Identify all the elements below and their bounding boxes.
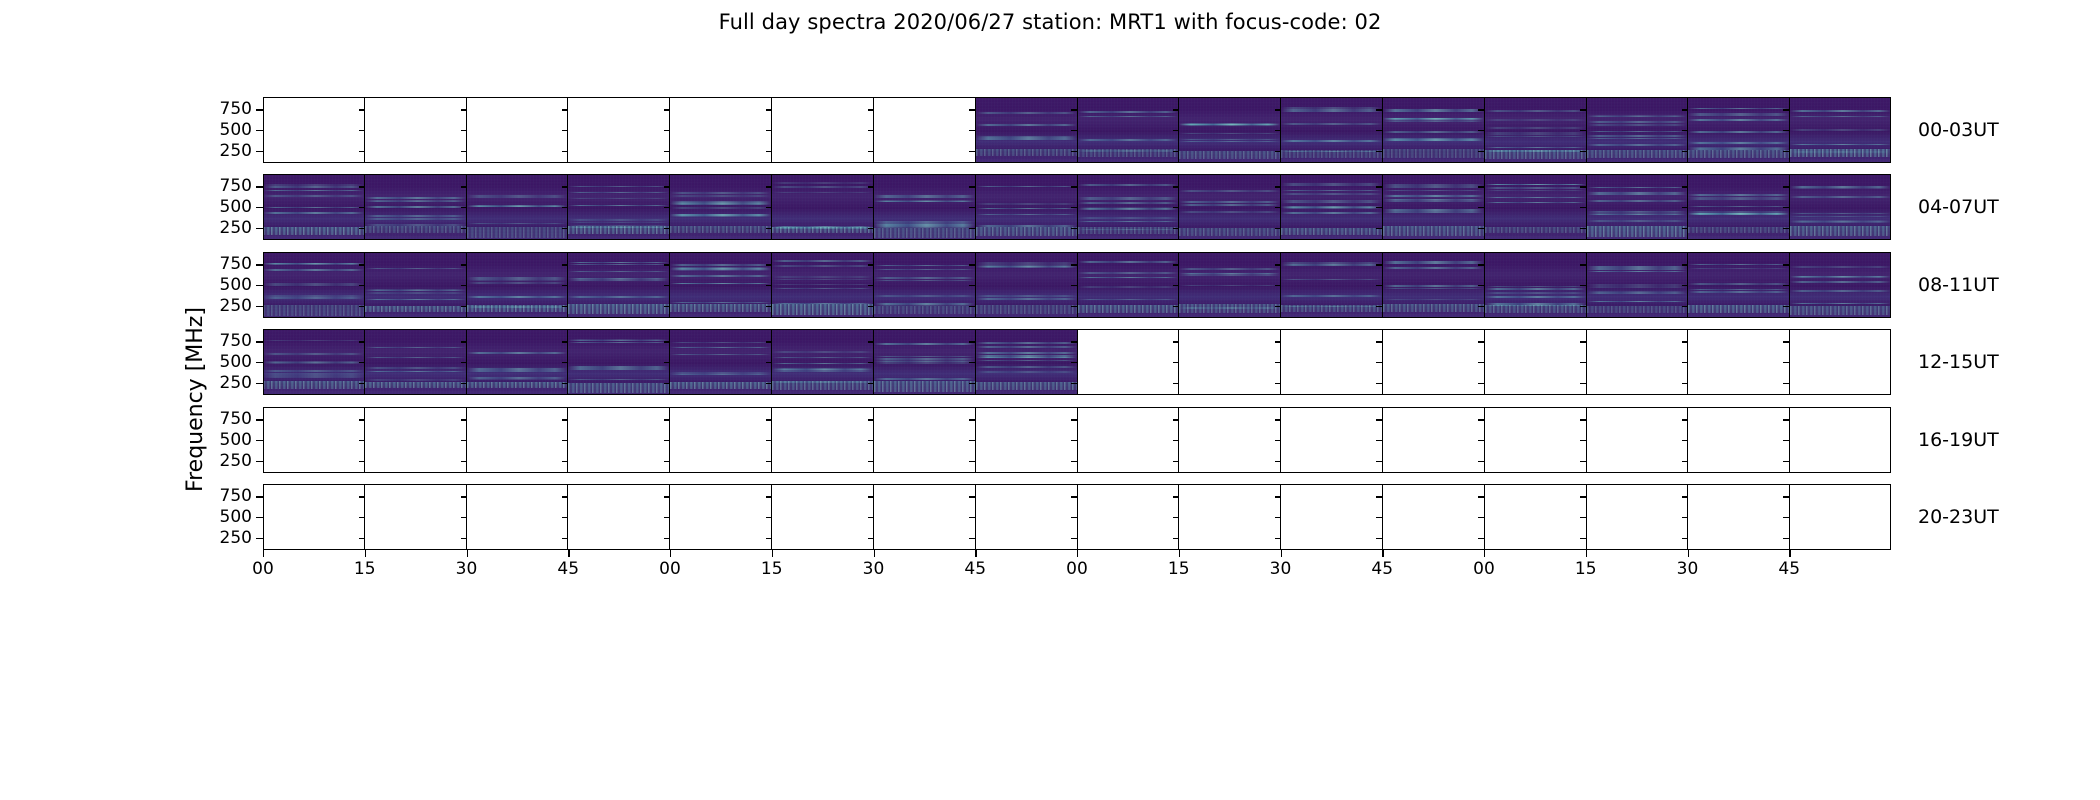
spectrogram-cell[interactable] [1688,97,1790,163]
y-tick-label: 500 [220,507,252,527]
y-tick-mark-inner [1682,207,1688,208]
y-tick-mark-inner [1173,228,1179,229]
spectrogram-image [1485,252,1586,318]
y-tick-mark-inner [359,109,365,110]
y-tick-mark-inner [1275,130,1281,131]
y-tick-mark-inner [461,538,467,539]
spectrogram-cell[interactable] [670,329,772,395]
y-tick-mark-inner [1173,517,1179,518]
y-tick-mark-inner [1478,285,1484,286]
y-tick-mark-inner [562,285,568,286]
y-tick-label: 500 [220,197,252,217]
spectrogram-cell[interactable] [1078,484,1180,550]
spectrogram-cell[interactable] [874,97,976,163]
y-tick-mark-inner [969,186,975,187]
spectrogram-cell[interactable] [1281,484,1383,550]
y-tick-mark-inner [359,461,365,462]
y-tick-mark-inner [562,207,568,208]
spectrogram-cell[interactable] [1383,252,1485,318]
spectrogram-row-16-19ut[interactable]: 250500750 [263,407,1891,473]
y-tick-mark-inner [1478,440,1484,441]
y-tick-mark-inner [1478,207,1484,208]
y-tick-mark-inner [359,538,365,539]
spectrogram-cell[interactable] [1485,174,1587,240]
y-tick-mark-inner [1173,207,1179,208]
spectrogram-cell[interactable] [1078,174,1180,240]
spectrogram-cell[interactable] [772,484,874,550]
spectrogram-cell[interactable] [467,407,569,473]
x-tick-label: 15 [761,559,783,579]
y-tick-mark-inner [1580,285,1586,286]
spectrogram-cell[interactable] [365,97,467,163]
spectrogram-cell[interactable] [1790,174,1891,240]
spectrogram-cell[interactable] [1078,407,1180,473]
spectrogram-cell[interactable] [772,252,874,318]
y-tick-mark-inner [766,461,772,462]
y-tick-mark-inner [1478,306,1484,307]
y-tick-mark-inner [562,538,568,539]
y-tick-mark-inner [664,341,670,342]
x-tick-mark [670,550,671,557]
y-tick-mark-inner [969,285,975,286]
y-tick-mark-inner [1275,383,1281,384]
y-tick-mark-inner [461,151,467,152]
spectrogram-cell[interactable] [263,484,365,550]
spectrogram-cell[interactable] [772,174,874,240]
spectrogram-cell[interactable] [1383,484,1485,550]
x-tick-label: 45 [1371,559,1393,579]
y-tick-mark-inner [1173,362,1179,363]
spectrogram-cell[interactable] [874,252,976,318]
spectrogram-row-12-15ut[interactable]: 250500750 [263,329,1891,395]
spectrogram-cell[interactable] [1485,407,1587,473]
spectrogram-image [1179,97,1280,163]
spectrogram-cell[interactable] [1383,329,1485,395]
y-tick-mark-inner [562,151,568,152]
y-tick-mark-inner [359,264,365,265]
spectrogram-cell[interactable] [1790,97,1891,163]
y-tick-mark-inner [1478,186,1484,187]
x-tick-mark [1789,550,1790,557]
y-tick-mark-inner [664,517,670,518]
spectrogram-cell[interactable] [568,174,670,240]
row-label-00-03ut: 00-03UT [1918,119,1999,141]
x-tick-label: 15 [354,559,376,579]
y-tick-mark-inner [1071,419,1077,420]
spectrogram-cell[interactable] [1281,329,1383,395]
y-tick-mark: 500 [256,440,263,441]
y-tick-mark-inner [969,362,975,363]
spectrogram-image [1688,174,1789,240]
spectrogram-cell[interactable] [1587,174,1689,240]
spectrogram-cell[interactable] [1688,174,1790,240]
y-tick-mark-inner [461,383,467,384]
y-tick-mark-inner [1580,362,1586,363]
y-tick-mark-inner [1682,362,1688,363]
spectrogram-image [874,174,975,240]
y-tick-mark-inner [766,341,772,342]
spectrogram-row-00-03ut[interactable]: 250500750 [263,97,1891,163]
subplot-cells [263,252,1891,318]
y-tick-mark-inner [461,228,467,229]
y-tick-mark-inner [1580,517,1586,518]
spectrogram-cell[interactable] [1688,252,1790,318]
y-tick-mark-inner [969,440,975,441]
y-tick-mark-inner [1071,264,1077,265]
spectrogram-cell[interactable] [568,407,670,473]
spectrogram-cell[interactable] [1179,97,1281,163]
y-tick-label: 250 [220,141,252,161]
y-tick-mark-inner [1376,341,1382,342]
spectrogram-cell[interactable] [1688,407,1790,473]
y-tick-mark-inner [461,285,467,286]
spectrogram-cell[interactable] [263,329,365,395]
spectrogram-cell[interactable] [976,484,1078,550]
spectrogram-cell[interactable] [772,97,874,163]
y-tick-mark-inner [766,440,772,441]
spectrogram-image [874,252,975,318]
spectrogram-cell[interactable] [1179,329,1281,395]
spectrogram-cell[interactable] [1078,97,1180,163]
y-tick-mark-inner [868,419,874,420]
row-label-12-15ut: 12-15UT [1918,351,1999,373]
x-tick-label: 00 [1066,559,1088,579]
y-tick-mark-inner [766,306,772,307]
y-tick-label: 500 [220,352,252,372]
y-tick-mark-inner [868,109,874,110]
y-tick-mark-inner [359,419,365,420]
y-tick-mark-inner [969,419,975,420]
spectrogram-cell[interactable] [1485,252,1587,318]
spectrogram-cell[interactable] [467,252,569,318]
spectrogram-cell[interactable] [365,484,467,550]
y-tick-mark-inner [969,130,975,131]
y-tick-label: 750 [220,486,252,506]
x-tick-mark [772,550,773,557]
spectrogram-cell[interactable] [1485,329,1587,395]
spectrogram-cell[interactable] [1485,484,1587,550]
spectrogram-cell[interactable] [1688,484,1790,550]
y-tick-mark-inner [969,496,975,497]
spectrogram-cell[interactable] [568,484,670,550]
y-tick-mark: 750 [256,186,263,187]
spectrogram-cell[interactable] [874,174,976,240]
y-tick-mark-inner [766,130,772,131]
y-tick-mark-inner [1783,109,1789,110]
y-tick-mark-inner [1783,496,1789,497]
spectrogram-cell[interactable] [365,252,467,318]
y-tick-mark-inner [1580,151,1586,152]
y-tick-mark-inner [359,383,365,384]
x-tick-label: 15 [1168,559,1190,579]
spectrogram-cell[interactable] [1281,174,1383,240]
y-tick-mark-inner [1682,306,1688,307]
spectrogram-cell[interactable] [1587,407,1689,473]
x-tick-label: 45 [964,559,986,579]
spectrogram-cell[interactable] [670,97,772,163]
spectrogram-cell[interactable] [1587,252,1689,318]
y-tick-mark-inner [1682,151,1688,152]
y-tick-mark-inner [1275,517,1281,518]
spectrogram-cell[interactable] [1383,174,1485,240]
spectrogram-image [772,174,873,240]
y-tick-mark-inner [1783,383,1789,384]
y-tick-mark-inner [461,207,467,208]
x-tick-label: 00 [1473,559,1495,579]
y-tick-label: 250 [220,528,252,548]
spectrogram-cell[interactable] [1383,97,1485,163]
spectrogram-image [1790,174,1891,240]
y-tick-mark-inner [1682,496,1688,497]
spectrogram-cell[interactable] [874,484,976,550]
spectrogram-cell[interactable] [976,252,1078,318]
spectrogram-cell[interactable] [365,329,467,395]
spectrogram-cell[interactable] [976,97,1078,163]
y-tick-mark-inner [461,461,467,462]
x-tick-mark [467,550,468,557]
y-tick-mark: 500 [256,362,263,363]
y-tick-mark-inner [359,228,365,229]
y-tick-mark-inner [562,461,568,462]
y-tick-mark-inner [1580,109,1586,110]
y-tick-mark-inner [1071,306,1077,307]
y-tick-mark-inner [1376,186,1382,187]
spectrogram-cell[interactable] [365,174,467,240]
y-tick-mark-inner [868,362,874,363]
y-tick-mark-inner [868,151,874,152]
y-tick-mark-inner [359,207,365,208]
y-tick-mark: 250 [256,383,263,384]
spectrogram-cell[interactable] [670,174,772,240]
spectrogram-cell[interactable] [670,407,772,473]
x-tick-mark [1382,550,1383,557]
spectrogram-cell[interactable] [1281,252,1383,318]
y-tick-mark-inner [1376,109,1382,110]
row-label-20-23ut: 20-23UT [1918,506,1999,528]
y-tick-label: 500 [220,430,252,450]
y-tick-mark-inner [1580,538,1586,539]
spectrogram-cell[interactable] [1587,484,1689,550]
spectrogram-cell[interactable] [976,329,1078,395]
spectrogram-cell[interactable] [1587,97,1689,163]
spectrogram-image [772,252,873,318]
spectrogram-cell[interactable] [263,407,365,473]
spectrogram-row-20-23ut[interactable]: 250500750 [263,484,1891,550]
y-tick-mark-inner [1580,461,1586,462]
y-tick-mark-inner [1071,186,1077,187]
x-tick-label: 45 [557,559,579,579]
y-tick-mark-inner [1173,538,1179,539]
y-tick-mark-inner [969,341,975,342]
figure-title: Full day spectra 2020/06/27 station: MRT… [0,10,2100,34]
y-tick-mark: 750 [256,109,263,110]
spectrogram-cell[interactable] [1485,97,1587,163]
y-tick-mark-inner [868,285,874,286]
y-tick-mark-inner [1173,419,1179,420]
y-tick-mark-inner [1783,130,1789,131]
x-tick-mark [263,550,264,557]
y-tick-mark-inner [969,538,975,539]
spectrogram-row-04-07ut[interactable]: 250500750 [263,174,1891,240]
spectrogram-image [1281,97,1382,163]
spectrogram-cell[interactable] [263,252,365,318]
spectrogram-cell[interactable] [1179,252,1281,318]
y-tick-mark-inner [664,186,670,187]
y-tick-mark-inner [1376,440,1382,441]
y-tick-mark-inner [1580,228,1586,229]
y-tick-mark-inner [1682,517,1688,518]
spectrogram-cell[interactable] [1790,407,1891,473]
spectrogram-cell[interactable] [1790,484,1891,550]
y-tick-label: 500 [220,120,252,140]
x-tick-label: 45 [1778,559,1800,579]
y-tick-mark-inner [1275,461,1281,462]
y-tick-mark-inner [461,186,467,187]
spectrogram-cell[interactable] [1078,329,1180,395]
spectrogram-cell[interactable] [1281,407,1383,473]
y-tick-mark-inner [1376,207,1382,208]
y-tick-mark-inner [1478,383,1484,384]
spectrogram-image [365,174,466,240]
y-tick-mark-inner [1173,186,1179,187]
y-tick-mark-inner [664,496,670,497]
x-tick-label: 30 [1270,559,1292,579]
spectrogram-cell[interactable] [467,97,569,163]
y-tick-mark-inner [868,130,874,131]
spectrogram-image [670,252,771,318]
y-tick-mark-inner [766,109,772,110]
spectrogram-cell[interactable] [365,407,467,473]
y-tick-mark-inner [766,151,772,152]
y-tick-mark-inner [868,207,874,208]
y-tick-mark-inner [461,306,467,307]
y-tick-mark-inner [868,496,874,497]
y-tick-mark-inner [1275,109,1281,110]
x-tick-mark [365,550,366,557]
y-tick-mark-inner [1275,538,1281,539]
spectrogram-cell[interactable] [772,329,874,395]
y-tick-mark-inner [1071,517,1077,518]
y-tick-mark-inner [461,130,467,131]
spectrogram-cell[interactable] [467,174,569,240]
y-tick-mark-inner [766,285,772,286]
y-tick-mark-inner [766,538,772,539]
y-tick-mark-inner [1580,440,1586,441]
y-tick-mark-inner [1783,517,1789,518]
spectrogram-image [1790,97,1891,163]
y-tick-mark-inner [868,264,874,265]
y-tick-mark-inner [868,186,874,187]
spectrogram-cell[interactable] [1179,174,1281,240]
y-tick-mark-inner [359,186,365,187]
y-tick-mark-inner [664,109,670,110]
y-tick-mark-inner [1275,419,1281,420]
y-tick-mark-inner [868,440,874,441]
y-tick-mark-inner [1478,151,1484,152]
spectrogram-image [1078,174,1179,240]
spectrogram-cell[interactable] [1790,252,1891,318]
y-tick-mark-inner [461,517,467,518]
y-tick-mark-inner [1580,341,1586,342]
spectrogram-image [365,329,466,395]
spectrogram-cell[interactable] [670,484,772,550]
spectrogram-cell[interactable] [1688,329,1790,395]
spectrogram-cell[interactable] [874,407,976,473]
y-tick-mark-inner [868,383,874,384]
x-tick-label: 30 [1677,559,1699,579]
spectrogram-cell[interactable] [568,252,670,318]
figure-canvas: Full day spectra 2020/06/27 station: MRT… [0,0,2100,800]
y-tick-mark-inner [1071,461,1077,462]
spectrogram-row-08-11ut[interactable]: 250500750 [263,252,1891,318]
y-tick-mark-inner [1376,264,1382,265]
y-tick-mark-inner [1173,461,1179,462]
y-tick-mark-inner [1071,130,1077,131]
spectrogram-cell[interactable] [467,484,569,550]
y-tick-mark-inner [1478,461,1484,462]
spectrogram-cell[interactable] [1587,329,1689,395]
y-tick-mark-inner [664,306,670,307]
y-tick-mark: 250 [256,461,263,462]
spectrogram-image [670,329,771,395]
subplot-cells [263,329,1891,395]
spectrogram-cell[interactable] [1179,484,1281,550]
y-tick-mark-inner [868,341,874,342]
y-tick-mark-inner [1275,228,1281,229]
y-tick-mark-inner [1071,496,1077,497]
y-tick-mark-inner [1173,285,1179,286]
spectrogram-cell[interactable] [874,329,976,395]
y-tick-mark-inner [1682,228,1688,229]
y-tick-mark-inner [868,228,874,229]
spectrogram-image [1383,174,1484,240]
row-label-16-19ut: 16-19UT [1918,429,1999,451]
y-tick-mark-inner [1173,341,1179,342]
spectrogram-cell[interactable] [1281,97,1383,163]
spectrogram-cell[interactable] [772,407,874,473]
y-tick-label: 250 [220,218,252,238]
spectrogram-cell[interactable] [976,407,1078,473]
y-tick-mark-inner [1275,496,1281,497]
y-tick-mark-inner [868,538,874,539]
y-tick-mark-inner [868,306,874,307]
y-tick-mark-inner [1478,109,1484,110]
y-tick-mark-inner [562,186,568,187]
spectrogram-cell[interactable] [467,329,569,395]
spectrogram-image [568,174,669,240]
y-tick-mark-inner [1376,496,1382,497]
spectrogram-cell[interactable] [976,174,1078,240]
spectrogram-cell[interactable] [1383,407,1485,473]
spectrogram-image [1179,174,1280,240]
spectrogram-cell[interactable] [1790,329,1891,395]
spectrogram-cell[interactable] [263,97,365,163]
x-axis: 00153045001530450015304500153045 [263,550,1891,582]
spectrogram-cell[interactable] [1078,252,1180,318]
y-tick-label: 750 [220,409,252,429]
spectrogram-cell[interactable] [1179,407,1281,473]
spectrogram-image [467,174,568,240]
spectrogram-cell[interactable] [568,97,670,163]
spectrogram-cell[interactable] [263,174,365,240]
x-tick-mark [1179,550,1180,557]
y-tick-label: 250 [220,373,252,393]
spectrogram-cell[interactable] [670,252,772,318]
y-tick-mark-inner [1376,130,1382,131]
spectrogram-image [1688,97,1789,163]
spectrogram-image [1688,252,1789,318]
spectrogram-cell[interactable] [568,329,670,395]
